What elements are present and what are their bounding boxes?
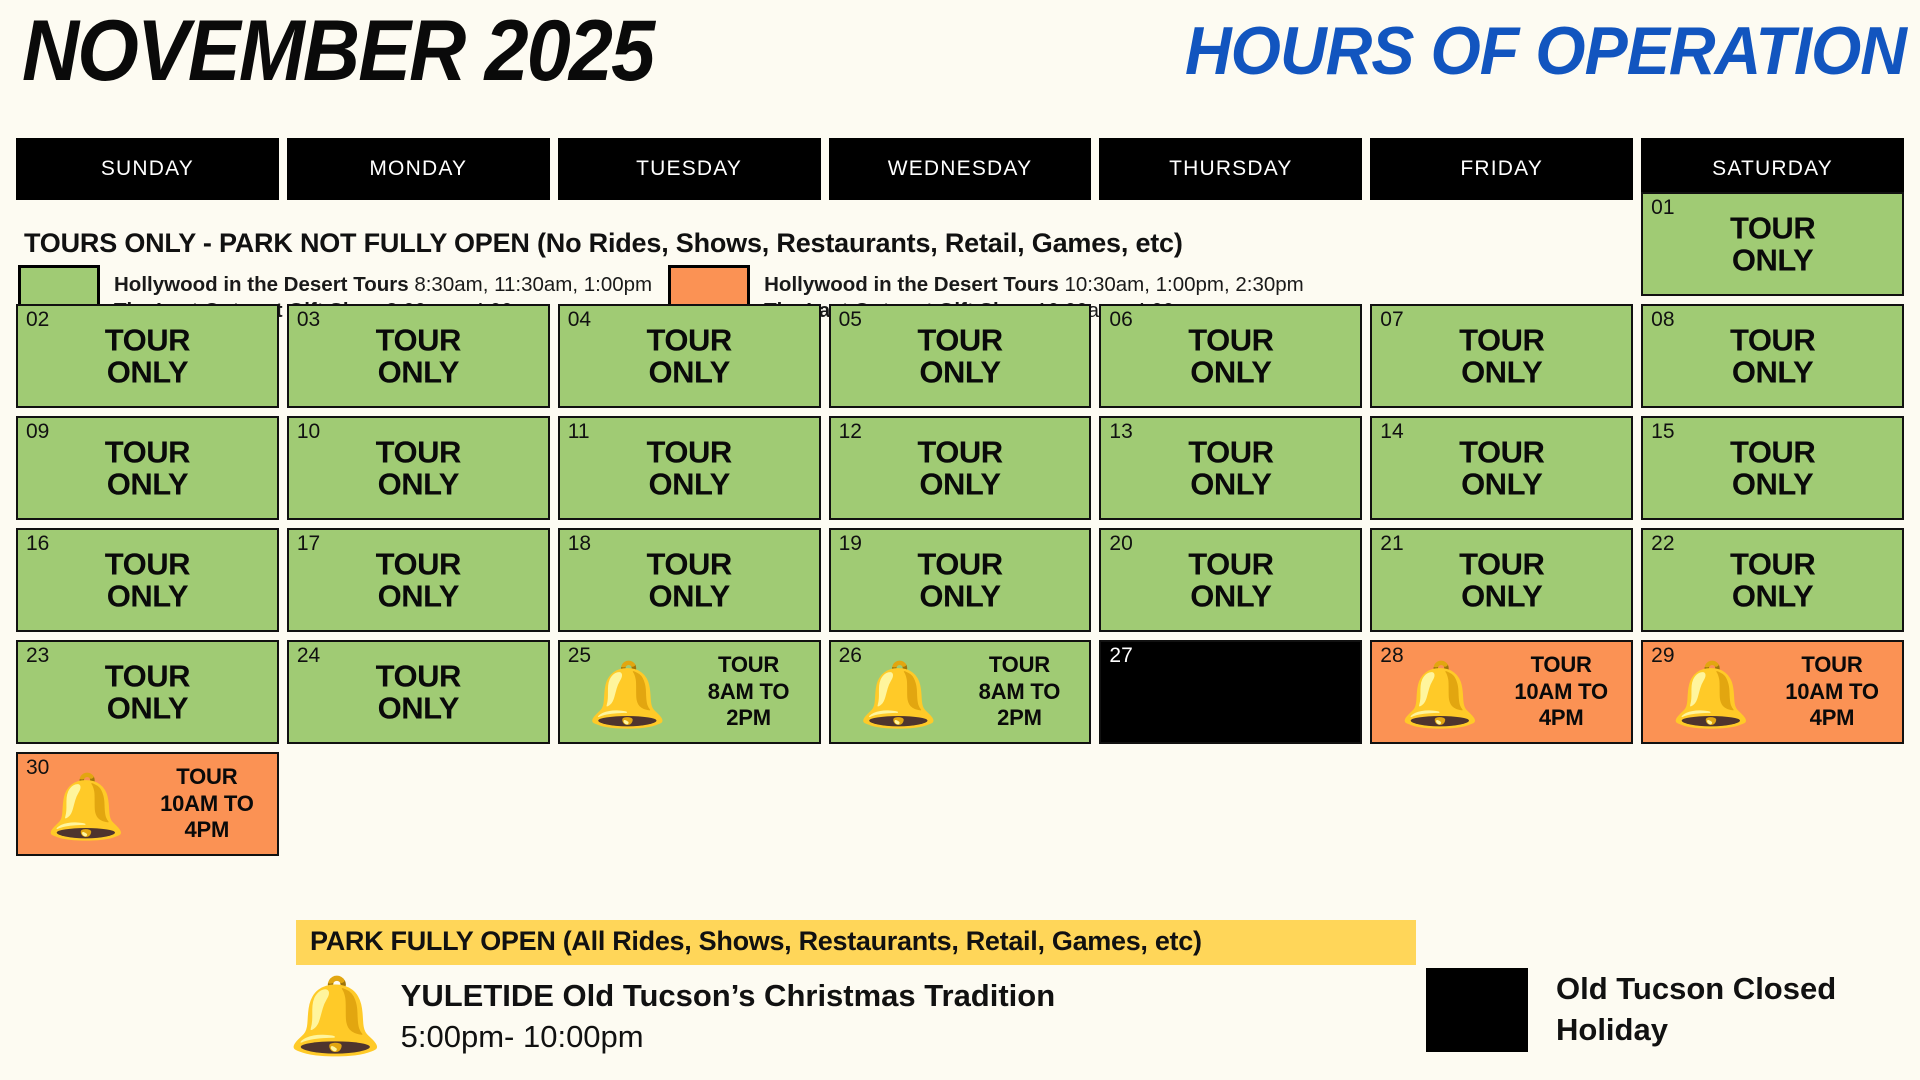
day-hours-line-1: TOUR <box>1501 652 1621 679</box>
tour-only-label: TOURONLY <box>1101 324 1360 387</box>
tour-only-line-2: ONLY <box>1643 468 1902 500</box>
calendar-day-25[interactable]: 25🔔TOUR8AM TO2PM <box>558 640 821 744</box>
day-hours-line-3: 4PM <box>147 817 267 844</box>
tour-only-label: TOURONLY <box>560 324 819 387</box>
tour-only-label: TOURONLY <box>1372 548 1631 611</box>
tour-only-label: TOURONLY <box>560 436 819 499</box>
tour-only-line-2: ONLY <box>1101 580 1360 612</box>
tour-only-line-2: ONLY <box>1643 580 1902 612</box>
day-hours-line-1: TOUR <box>959 652 1079 679</box>
calendar-day-10[interactable]: 10TOURONLY <box>287 416 550 520</box>
bells-icon: 🔔 <box>1400 663 1480 727</box>
day-hours-line-2: 8AM TO <box>689 679 809 706</box>
calendar-day-17[interactable]: 17TOURONLY <box>287 528 550 632</box>
day-of-week-header-row: SUNDAY MONDAY TUESDAY WEDNESDAY THURSDAY… <box>16 138 1904 200</box>
day-hours-label: TOUR8AM TO2PM <box>959 652 1079 732</box>
day-hours-label: TOUR10AM TO4PM <box>1772 652 1892 732</box>
tour-only-line-1: TOUR <box>1643 324 1902 356</box>
closed-legend-line-2: Holiday <box>1556 1010 1836 1051</box>
tour-only-label: TOURONLY <box>18 548 277 611</box>
bells-icon: 🔔 <box>859 663 939 727</box>
day-header-thursday: THURSDAY <box>1099 138 1362 200</box>
day-header-sunday: SUNDAY <box>16 138 279 200</box>
bells-icon: 🔔 <box>588 663 668 727</box>
tour-only-line-2: ONLY <box>18 468 277 500</box>
tour-only-line-1: TOUR <box>1101 324 1360 356</box>
calendar-day-01[interactable]: 01TOURONLY <box>1641 192 1904 296</box>
yuletide-legend: 🔔 YULETIDE Old Tucson’s Christmas Tradit… <box>288 976 1055 1058</box>
tour-only-label: TOURONLY <box>289 548 548 611</box>
day-header-friday: FRIDAY <box>1370 138 1633 200</box>
tour-only-line-2: ONLY <box>560 356 819 388</box>
calendar-day-02[interactable]: 02TOURONLY <box>16 304 279 408</box>
tour-only-line-2: ONLY <box>1372 468 1631 500</box>
tour-only-line-1: TOUR <box>831 548 1090 580</box>
tour-only-label: TOURONLY <box>1101 548 1360 611</box>
bells-icon: 🔔 <box>46 775 126 839</box>
day-hours-line-1: TOUR <box>1772 652 1892 679</box>
day-hours-line-2: 10AM TO <box>147 791 267 818</box>
calendar-day-16[interactable]: 16TOURONLY <box>16 528 279 632</box>
day-hours-label: TOUR8AM TO2PM <box>689 652 809 732</box>
calendar-day-15[interactable]: 15TOURONLY <box>1641 416 1904 520</box>
tour-only-line-2: ONLY <box>289 356 548 388</box>
tour-only-line-1: TOUR <box>1643 548 1902 580</box>
tour-only-line-2: ONLY <box>1101 356 1360 388</box>
calendar-cell-empty <box>829 752 1092 856</box>
calendar-cell-empty <box>1641 752 1904 856</box>
calendar-day-28[interactable]: 28🔔TOUR10AM TO4PM <box>1370 640 1633 744</box>
tour-only-line-1: TOUR <box>1643 436 1902 468</box>
day-hours-line-3: 4PM <box>1772 705 1892 732</box>
day-header-saturday: SATURDAY <box>1641 138 1904 200</box>
tour-only-label: TOURONLY <box>1643 324 1902 387</box>
calendar-day-06[interactable]: 06TOURONLY <box>1099 304 1362 408</box>
day-number: 27 <box>1109 645 1132 666</box>
tour-only-label: TOURONLY <box>289 324 548 387</box>
tour-only-line-2: ONLY <box>560 580 819 612</box>
yuletide-hours: 5:00pm- 10:00pm <box>401 1017 1056 1058</box>
tour-only-line-2: ONLY <box>831 356 1090 388</box>
calendar-day-30[interactable]: 30🔔TOUR10AM TO4PM <box>16 752 279 856</box>
calendar-day-27[interactable]: 27 <box>1099 640 1362 744</box>
tour-only-line-2: ONLY <box>831 580 1090 612</box>
calendar-cell-empty <box>287 752 550 856</box>
tour-only-line-2: ONLY <box>289 468 548 500</box>
tour-only-line-1: TOUR <box>289 548 548 580</box>
tour-only-line-2: ONLY <box>289 692 548 724</box>
calendar-cell-empty <box>287 192 550 296</box>
tour-only-label: TOURONLY <box>831 436 1090 499</box>
tour-only-line-2: ONLY <box>831 468 1090 500</box>
day-hours-line-3: 2PM <box>959 705 1079 732</box>
calendar-day-04[interactable]: 04TOURONLY <box>558 304 821 408</box>
calendar-day-18[interactable]: 18TOURONLY <box>558 528 821 632</box>
calendar-grid: 01TOURONLY02TOURONLY03TOURONLY04TOURONLY… <box>16 192 1904 856</box>
calendar-day-08[interactable]: 08TOURONLY <box>1641 304 1904 408</box>
calendar-day-21[interactable]: 21TOURONLY <box>1370 528 1633 632</box>
calendar-day-22[interactable]: 22TOURONLY <box>1641 528 1904 632</box>
calendar-day-13[interactable]: 13TOURONLY <box>1099 416 1362 520</box>
day-hours-line-3: 4PM <box>1501 705 1621 732</box>
tour-only-line-2: ONLY <box>289 580 548 612</box>
tour-only-line-1: TOUR <box>1101 436 1360 468</box>
tour-only-line-1: TOUR <box>1372 548 1631 580</box>
day-hours-line-2: 10AM TO <box>1772 679 1892 706</box>
month-title: NOVEMBER 2025 <box>22 2 653 101</box>
calendar-day-20[interactable]: 20TOURONLY <box>1099 528 1362 632</box>
tour-only-label: TOURONLY <box>1643 436 1902 499</box>
calendar-day-19[interactable]: 19TOURONLY <box>829 528 1092 632</box>
day-hours-line-1: TOUR <box>689 652 809 679</box>
tour-only-line-1: TOUR <box>1101 548 1360 580</box>
calendar-day-03[interactable]: 03TOURONLY <box>287 304 550 408</box>
tour-only-line-1: TOUR <box>560 436 819 468</box>
calendar-day-05[interactable]: 05TOURONLY <box>829 304 1092 408</box>
day-header-wednesday: WEDNESDAY <box>829 138 1092 200</box>
page-header: NOVEMBER 2025 HOURS OF OPERATION <box>0 0 1920 120</box>
tour-only-line-1: TOUR <box>18 548 277 580</box>
tour-only-line-2: ONLY <box>1643 356 1902 388</box>
yuletide-day-content: 🔔TOUR8AM TO2PM <box>560 642 819 742</box>
tour-only-line-1: TOUR <box>1372 324 1631 356</box>
tour-only-line-1: TOUR <box>18 436 277 468</box>
calendar-day-29[interactable]: 29🔔TOUR10AM TO4PM <box>1641 640 1904 744</box>
tour-only-label: TOURONLY <box>1372 324 1631 387</box>
tour-only-line-1: TOUR <box>289 436 548 468</box>
calendar-cell-empty <box>558 192 821 296</box>
tour-only-label: TOURONLY <box>831 324 1090 387</box>
tour-only-line-1: TOUR <box>560 324 819 356</box>
tour-only-line-1: TOUR <box>289 324 548 356</box>
calendar-day-09[interactable]: 09TOURONLY <box>16 416 279 520</box>
tour-only-line-2: ONLY <box>1372 580 1631 612</box>
calendar-page: NOVEMBER 2025 HOURS OF OPERATION SUNDAY … <box>0 0 1920 1080</box>
tour-only-line-2: ONLY <box>1101 468 1360 500</box>
black-swatch <box>1426 968 1528 1052</box>
calendar-cell-empty <box>1099 192 1362 296</box>
calendar-cell-empty <box>1370 752 1633 856</box>
day-hours-label: TOUR10AM TO4PM <box>147 764 267 844</box>
day-header-monday: MONDAY <box>287 138 550 200</box>
tour-only-label: TOURONLY <box>1101 436 1360 499</box>
tour-only-line-1: TOUR <box>18 660 277 692</box>
tour-only-line-1: TOUR <box>831 436 1090 468</box>
day-hours-line-2: 10AM TO <box>1501 679 1621 706</box>
tour-only-label: TOURONLY <box>1643 212 1902 275</box>
day-header-tuesday: TUESDAY <box>558 138 821 200</box>
calendar-cell-empty <box>1099 752 1362 856</box>
day-hours-line-3: 2PM <box>689 705 809 732</box>
tour-only-label: TOURONLY <box>560 548 819 611</box>
day-hours-line-1: TOUR <box>147 764 267 791</box>
tour-only-label: TOURONLY <box>18 436 277 499</box>
tour-only-label: TOURONLY <box>289 436 548 499</box>
bells-icon: 🔔 <box>288 979 383 1055</box>
tour-only-line-2: ONLY <box>18 692 277 724</box>
calendar-day-11[interactable]: 11TOURONLY <box>558 416 821 520</box>
tour-only-label: TOURONLY <box>1372 436 1631 499</box>
yuletide-day-content: 🔔TOUR10AM TO4PM <box>1643 642 1902 742</box>
tour-only-label: TOURONLY <box>18 324 277 387</box>
calendar-cell-empty <box>829 192 1092 296</box>
calendar-cell-empty <box>1370 192 1633 296</box>
closed-holiday-legend: Old Tucson Closed Holiday <box>1426 968 1836 1052</box>
park-fully-open-banner: PARK FULLY OPEN (All Rides, Shows, Resta… <box>296 920 1416 965</box>
yuletide-title: YULETIDE Old Tucson’s Christmas Traditio… <box>401 976 1056 1017</box>
calendar-day-07[interactable]: 07TOURONLY <box>1370 304 1633 408</box>
hours-of-operation-title: HOURS OF OPERATION <box>1185 12 1906 90</box>
yuletide-day-content: 🔔TOUR10AM TO4PM <box>18 754 277 854</box>
bells-icon: 🔔 <box>1671 663 1751 727</box>
tour-only-label: TOURONLY <box>1643 548 1902 611</box>
calendar-day-12[interactable]: 12TOURONLY <box>829 416 1092 520</box>
tour-only-line-2: ONLY <box>18 580 277 612</box>
day-hours-label: TOUR10AM TO4PM <box>1501 652 1621 732</box>
tour-only-label: TOURONLY <box>831 548 1090 611</box>
tour-only-line-1: TOUR <box>1643 212 1902 244</box>
day-hours-line-2: 8AM TO <box>959 679 1079 706</box>
tour-only-line-1: TOUR <box>18 324 277 356</box>
tour-only-line-2: ONLY <box>18 356 277 388</box>
tour-only-label: TOURONLY <box>289 660 548 723</box>
tour-only-line-1: TOUR <box>289 660 548 692</box>
tour-only-line-2: ONLY <box>1372 356 1631 388</box>
yuletide-day-content: 🔔TOUR8AM TO2PM <box>831 642 1090 742</box>
calendar-day-23[interactable]: 23TOURONLY <box>16 640 279 744</box>
calendar-cell-empty <box>16 192 279 296</box>
calendar-day-24[interactable]: 24TOURONLY <box>287 640 550 744</box>
calendar-day-14[interactable]: 14TOURONLY <box>1370 416 1633 520</box>
tour-only-line-1: TOUR <box>560 548 819 580</box>
tour-only-line-1: TOUR <box>831 324 1090 356</box>
tour-only-line-2: ONLY <box>1643 244 1902 276</box>
yuletide-day-content: 🔔TOUR10AM TO4PM <box>1372 642 1631 742</box>
tour-only-line-2: ONLY <box>560 468 819 500</box>
bottom-legend: PARK FULLY OPEN (All Rides, Shows, Resta… <box>16 920 1904 1080</box>
calendar-day-26[interactable]: 26🔔TOUR8AM TO2PM <box>829 640 1092 744</box>
tour-only-label: TOURONLY <box>18 660 277 723</box>
calendar-cell-empty <box>558 752 821 856</box>
tour-only-line-1: TOUR <box>1372 436 1631 468</box>
closed-legend-line-1: Old Tucson Closed <box>1556 969 1836 1010</box>
